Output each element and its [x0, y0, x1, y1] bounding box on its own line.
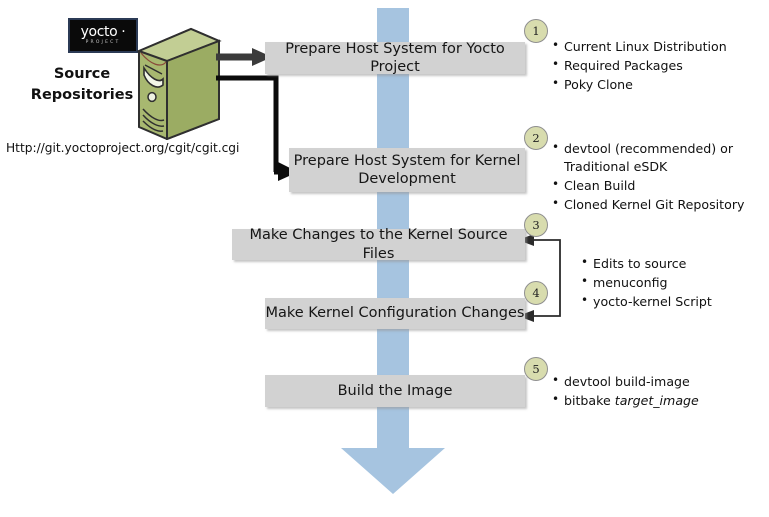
logo-wordmark: yocto ·: [81, 25, 126, 39]
list-item: menuconfig: [581, 274, 761, 292]
process-box-build-image[interactable]: Build the Image: [265, 375, 525, 407]
step-badge-3: 3: [524, 213, 548, 237]
step1-bullet-list: Current Linux Distribution Required Pack…: [552, 38, 762, 95]
step-badge-4: 4: [524, 281, 548, 305]
logo-subtitle: PROJECT: [86, 41, 121, 46]
server-tower-icon: [133, 27, 223, 140]
list-item: devtool build-image: [552, 373, 762, 391]
list-item: Poky Clone: [552, 76, 762, 94]
process-box-make-kernel-config-changes[interactable]: Make Kernel Configuration Changes: [265, 298, 525, 329]
list-item: bitbake target_image: [552, 392, 762, 410]
process-box-prepare-host-yocto[interactable]: Prepare Host System for Yocto Project: [265, 42, 525, 74]
steps-3-4-bullet-list: Edits to source menuconfig yocto-kernel …: [581, 255, 761, 312]
process-box-make-kernel-source-changes[interactable]: Make Changes to the Kernel Source Files: [232, 229, 525, 260]
step2-bullet-list: devtool (recommended) or Traditional eSD…: [552, 140, 762, 215]
step2-bullet1-line1: devtool (recommended) or: [564, 141, 733, 156]
source-label-line2: Repositories: [22, 85, 142, 106]
step-badge-2: 2: [524, 126, 548, 150]
process-box-prepare-host-kernel[interactable]: Prepare Host System for Kernel Developme…: [289, 148, 525, 192]
connector-server-to-step2-arrow-icon: [216, 74, 298, 182]
box2-line2: Development: [294, 170, 521, 188]
yocto-project-logo: yocto · PROJECT: [68, 18, 138, 53]
list-item: yocto-kernel Script: [581, 293, 761, 311]
step5-bullet-list: devtool build-image bitbake target_image: [552, 373, 762, 411]
list-item: Current Linux Distribution: [552, 38, 762, 56]
step5-bullet2-prefix: bitbake: [564, 393, 615, 408]
source-repositories-label: Source Repositories: [22, 64, 142, 106]
step-badge-1: 1: [524, 19, 548, 43]
list-item: devtool (recommended) or Traditional eSD…: [552, 140, 762, 176]
flow-arrow-down-icon: [337, 428, 449, 496]
diagram-canvas: yocto · PROJECT Source Repositories Http…: [0, 0, 769, 517]
box2-line1: Prepare Host System for Kernel: [294, 152, 521, 170]
list-item: Cloned Kernel Git Repository: [552, 196, 762, 214]
step-badge-5: 5: [524, 357, 548, 381]
list-item: Clean Build: [552, 177, 762, 195]
list-item: Edits to source: [581, 255, 761, 273]
step2-bullet1-line2: Traditional eSDK: [564, 159, 667, 174]
source-label-line1: Source: [22, 64, 142, 85]
list-item: Required Packages: [552, 57, 762, 75]
repository-url: Http://git.yoctoproject.org/cgit/cgit.cg…: [6, 141, 239, 155]
connector-bracket-steps-3-4-icon: [518, 234, 580, 324]
step5-bullet2-italic: target_image: [615, 393, 699, 408]
